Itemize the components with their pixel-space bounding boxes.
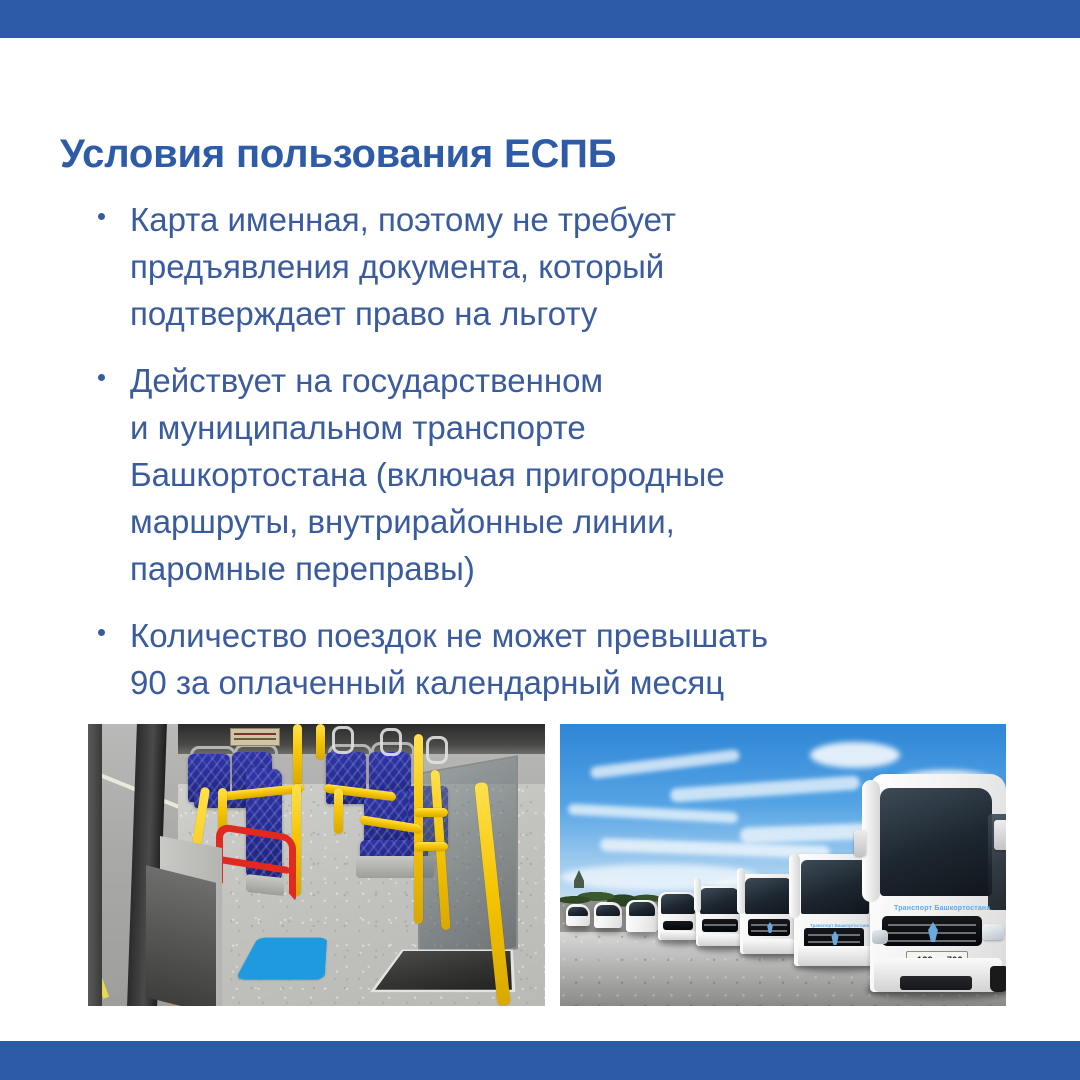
lower-intake	[900, 976, 972, 990]
handrail	[414, 808, 448, 817]
ceiling-placard	[230, 728, 280, 746]
bus-interior-photo	[88, 724, 545, 1006]
hand-strap	[332, 726, 354, 754]
bus-distant	[566, 972, 592, 1006]
conditions-list: Карта именная, поэтому не требует предъя…	[98, 196, 978, 706]
door-edge	[88, 724, 102, 1006]
bullet-dot-icon	[98, 612, 130, 636]
bus-brand-text: Транспорт Башкортостана	[894, 905, 990, 912]
bus-row	[740, 910, 802, 1006]
top-accent-band	[0, 0, 1080, 38]
list-item-text: Карта именная, поэтому не требует предъя…	[130, 196, 978, 337]
photo-row: Транспорт Башкортостана к620хв 702	[88, 724, 1006, 1006]
page-title: Условия пользования ЕСПБ	[60, 132, 616, 177]
list-item: Действует на государственном и муниципал…	[98, 357, 978, 592]
bottom-accent-band	[0, 1041, 1080, 1080]
slide-root: Условия пользования ЕСПБ Карта именная, …	[0, 0, 1080, 1080]
bus-row	[658, 946, 700, 1006]
handrail	[414, 842, 448, 851]
list-item-text: Количество поездок не может превышать 90…	[130, 612, 978, 706]
bullet-dot-icon	[98, 196, 130, 220]
headlight	[982, 924, 1004, 940]
bus-foreground: Транспорт Башкортостана в139хв 702	[870, 776, 1006, 1006]
handrail	[334, 788, 343, 834]
wheel	[990, 966, 1006, 992]
handrail	[316, 724, 325, 760]
bus-fleet-photo: Транспорт Башкортостана к620хв 702	[560, 724, 1006, 1006]
cloud	[810, 742, 900, 768]
bus-distant	[594, 968, 624, 1006]
hand-strap	[426, 736, 448, 764]
side-mirror	[854, 830, 866, 856]
list-item: Количество поездок не может превышать 90…	[98, 612, 978, 706]
bus-distant	[626, 962, 660, 1006]
list-item: Карта именная, поэтому не требует предъя…	[98, 196, 978, 337]
side-panel-dark	[146, 865, 216, 1006]
bullet-dot-icon	[98, 357, 130, 381]
side-mirror	[994, 820, 1006, 850]
handrail	[293, 724, 302, 786]
bus-row	[696, 932, 746, 1006]
hand-strap	[380, 728, 402, 756]
headlight	[872, 930, 888, 944]
list-item-text: Действует на государственном и муниципал…	[130, 357, 978, 592]
